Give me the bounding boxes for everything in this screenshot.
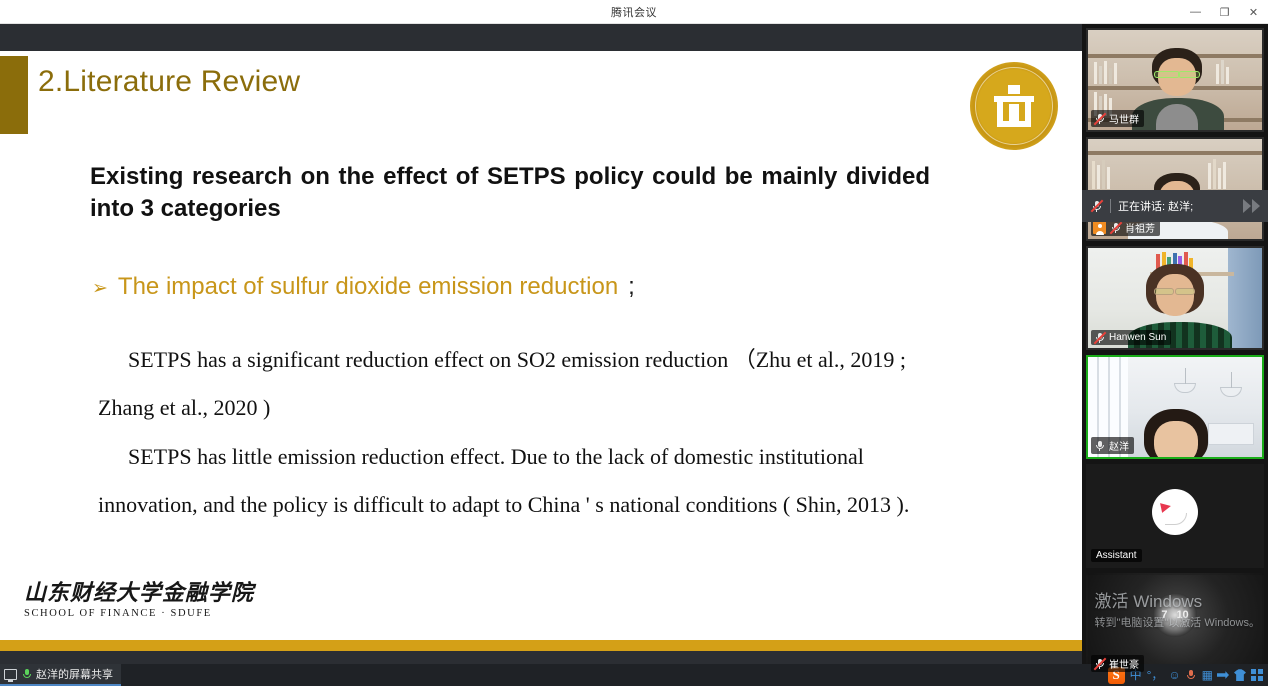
participant-tile[interactable]: 肖祖芳: [1086, 137, 1264, 241]
active-speaker-text: 正在讲话: 赵洋;: [1118, 198, 1193, 214]
bullet-suffix: ;: [628, 273, 635, 301]
participant-badge: 崔世豪: [1091, 655, 1144, 672]
participant-name: 马世群: [1109, 111, 1139, 126]
school-logo-chinese: 山东财经大学金融学院: [24, 575, 254, 607]
bullet-text: The impact of sulfur dioxide emission re…: [118, 273, 618, 301]
close-button[interactable]: ✕: [1239, 0, 1268, 24]
window-controls: — ❐ ✕: [1181, 0, 1268, 24]
slide-bottom-gold-bar: [0, 640, 1082, 651]
window-titlebar: 腾讯会议 — ❐ ✕: [0, 0, 1268, 24]
assistant-avatar-icon: [1152, 489, 1198, 535]
ime-emoji-icon[interactable]: ☺: [1168, 669, 1180, 681]
mic-muted-icon: [1093, 657, 1106, 670]
tencent-meeting-window: 腾讯会议 — ❐ ✕ 2.Literature Review Existing …: [0, 0, 1268, 686]
slide-title: 2.Literature Review: [38, 65, 300, 99]
mic-muted-icon: [1090, 200, 1103, 213]
minimize-button[interactable]: —: [1181, 0, 1210, 24]
participant-badge: 赵洋: [1091, 437, 1134, 454]
mic-muted-icon: [1109, 221, 1122, 234]
ime-keyboard-icon[interactable]: ▦: [1202, 669, 1212, 681]
ime-more-apps-icon[interactable]: [1251, 669, 1263, 681]
slide-paragraph: SETPS has little emission reduction effe…: [98, 433, 928, 530]
slide-paragraph: SETPS has a significant reduction effect…: [98, 336, 928, 433]
university-seal-icon: [968, 60, 1060, 152]
mic-icon: [21, 668, 32, 680]
mic-muted-icon: [1093, 112, 1106, 125]
participant-badge: Hanwen Sun: [1091, 330, 1171, 345]
mic-active-icon: [1093, 439, 1106, 452]
participant-name: 肖祖芳: [1125, 220, 1155, 235]
windows-taskbar[interactable]: 赵洋的屏幕共享 S 中 °， ☺ ▦: [0, 664, 1268, 686]
ime-voice-input-icon[interactable]: [1186, 669, 1197, 681]
active-speaker-banner: 正在讲话: 赵洋;: [1082, 190, 1268, 222]
participant-avatar-icon: [1093, 221, 1106, 234]
participant-name: Hanwen Sun: [1109, 332, 1166, 343]
shared-screen-top-strip: [0, 24, 1082, 51]
participant-tile-active-speaker[interactable]: 赵洋: [1086, 355, 1264, 459]
taskbar-item-label: 赵洋的屏幕共享: [36, 666, 113, 682]
restore-button[interactable]: ❐: [1210, 0, 1239, 24]
participant-tile[interactable]: 710 崔世豪: [1086, 573, 1264, 677]
bullet-arrow-icon: ➢: [92, 277, 108, 300]
slide-lead-text: Existing research on the effect of SETPS…: [90, 161, 930, 224]
shared-screen-bottom-strip: [0, 651, 1082, 664]
window-title: 腾讯会议: [611, 4, 657, 20]
ime-toolbox-icon[interactable]: [1217, 669, 1229, 681]
participant-tile[interactable]: 马世群: [1086, 28, 1264, 132]
slide-bullet-item: ➢ The impact of sulfur dioxide emission …: [92, 273, 635, 301]
participant-name: 赵洋: [1109, 438, 1129, 453]
taskbar-item-screen-share[interactable]: 赵洋的屏幕共享: [0, 664, 121, 686]
participant-tile[interactable]: Assistant: [1086, 464, 1264, 568]
participant-filmstrip[interactable]: 马世群 肖祖芳: [1082, 24, 1268, 664]
ime-punctuation-icon[interactable]: °，: [1147, 669, 1164, 681]
clock-wallpaper-icon: 710: [1153, 593, 1197, 637]
slide-body-text: SETPS has a significant reduction effect…: [98, 336, 928, 530]
ime-skin-icon[interactable]: [1234, 669, 1246, 681]
collapse-chevron-icon[interactable]: [1243, 199, 1260, 213]
participant-name: Assistant: [1091, 549, 1142, 562]
title-accent-block: [0, 56, 28, 134]
school-logo: 山东财经大学金融学院 SCHOOL OF FINANCE · SDUFE: [24, 575, 254, 619]
mic-muted-icon: [1093, 331, 1106, 344]
school-logo-english: SCHOOL OF FINANCE · SDUFE: [24, 608, 254, 619]
participant-name: 崔世豪: [1109, 656, 1139, 671]
monitor-icon: [4, 669, 17, 680]
participant-tile[interactable]: Hanwen Sun: [1086, 246, 1264, 350]
shared-slide: 2.Literature Review Existing research on…: [0, 51, 1082, 651]
participant-badge: 马世群: [1091, 110, 1144, 127]
